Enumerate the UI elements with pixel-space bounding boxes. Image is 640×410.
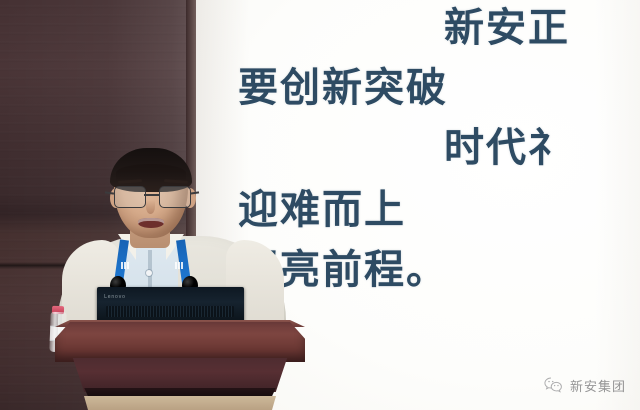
speaker-nose xyxy=(146,200,155,214)
watermark: 新安集团 xyxy=(543,375,626,396)
speaker-mouth xyxy=(138,218,164,228)
podium-base xyxy=(80,396,280,410)
slide-line-1: 新安正 xyxy=(444,8,570,48)
podium-top xyxy=(55,322,305,362)
laptop xyxy=(97,287,244,323)
conference-photo: 新安正 要创新突破 时代礻 迎难而上 照亮前程。 xyxy=(0,0,640,410)
lanyard-print xyxy=(121,262,130,269)
glasses-lens-right xyxy=(159,186,191,208)
watermark-label: 新安集团 xyxy=(570,376,626,395)
glasses-lens-left xyxy=(114,186,146,208)
glasses-bridge xyxy=(144,194,159,196)
lanyard-print xyxy=(175,262,184,269)
podium-body xyxy=(66,358,294,392)
laptop-vent-grill xyxy=(106,306,234,317)
laptop-brand-logo: Lenovo xyxy=(104,294,126,300)
shirt-button xyxy=(146,270,152,276)
wechat-icon xyxy=(543,375,564,396)
slide-line-3: 时代礻 xyxy=(444,128,570,168)
